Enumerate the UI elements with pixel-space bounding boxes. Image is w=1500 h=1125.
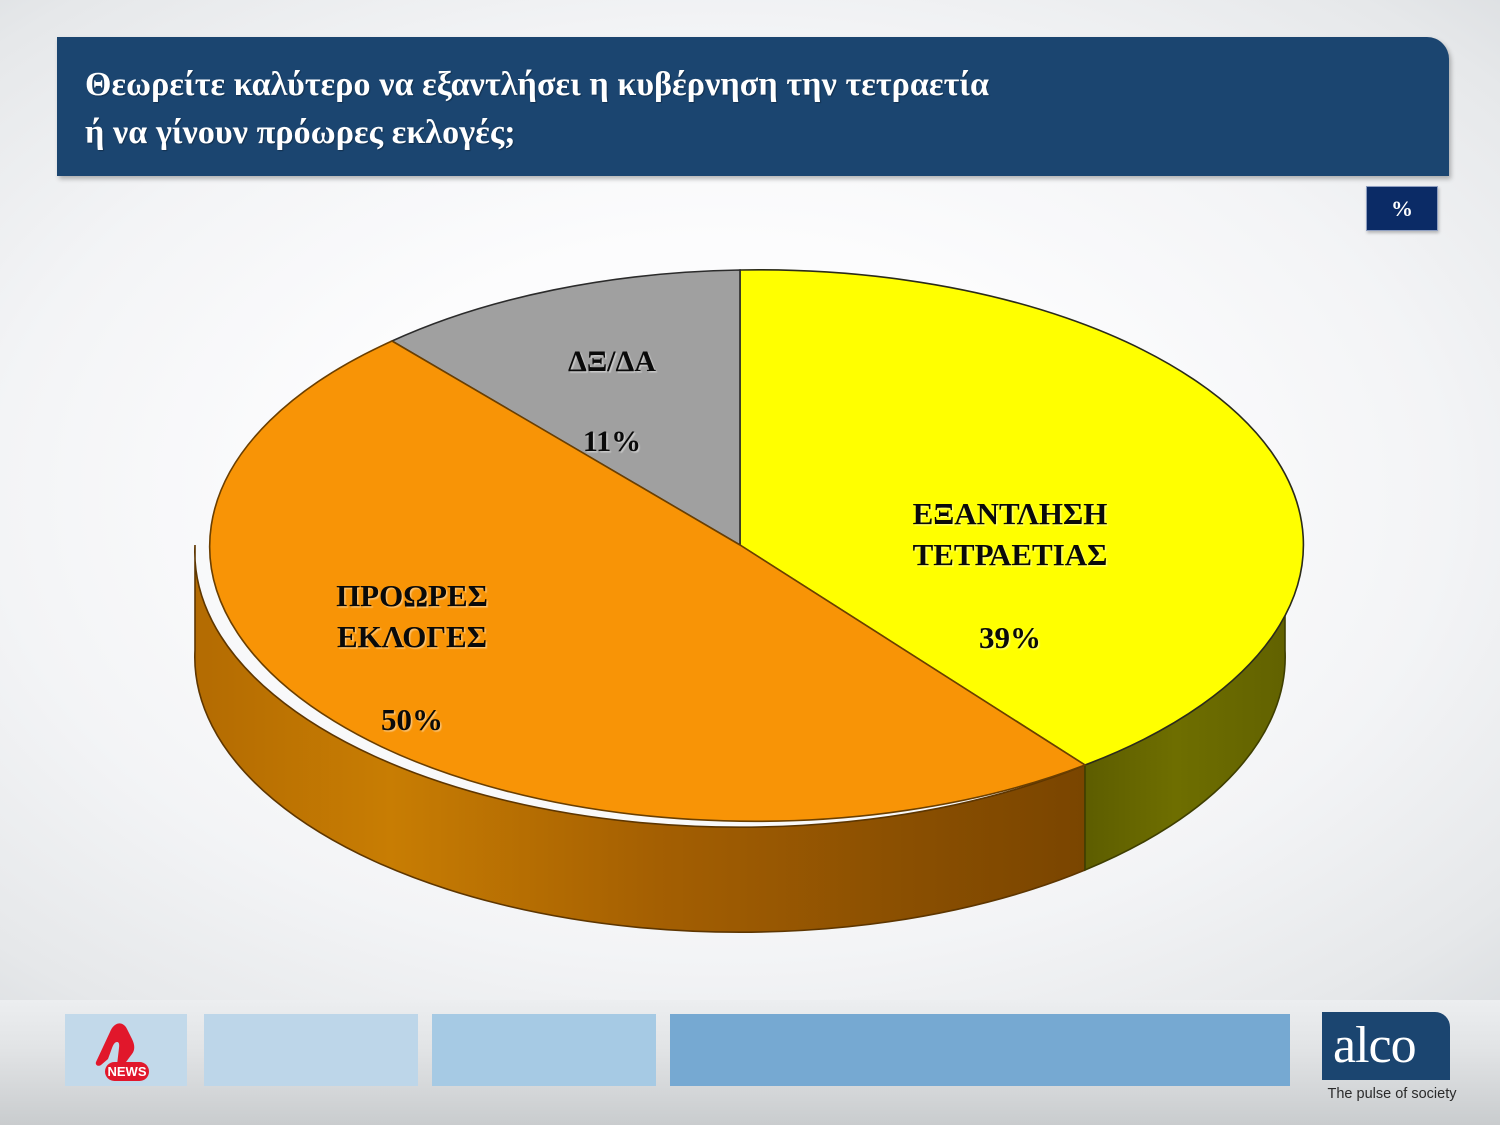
alco-wordmark: alco [1333,1020,1416,1072]
anews-logo-icon: NEWS [88,1021,162,1083]
pie-chart: ΕΞΑΝΤΛΗΣΗ ΤΕΤΡΑΕΤΙΑΣ 39% ΠΡΟΩΡΕΣ ΕΚΛΟΓΕΣ… [0,0,1500,1000]
alco-logo-box: alco [1322,1012,1450,1080]
alco-tagline: The pulse of society [1322,1086,1462,1102]
anews-logo: NEWS [88,1021,162,1083]
pie-chart-svg [0,0,1500,1000]
footer-block-4 [670,1014,1290,1086]
footer-block-2 [204,1014,418,1086]
footer-block-3 [432,1014,656,1086]
anews-a-glyph [96,1023,134,1067]
slide-canvas: Θεωρείτε καλύτερο να εξαντλήσει η κυβέρν… [0,0,1500,1125]
alco-logo: alco The pulse of society [1322,1012,1462,1110]
anews-pill-label: NEWS [108,1064,147,1079]
